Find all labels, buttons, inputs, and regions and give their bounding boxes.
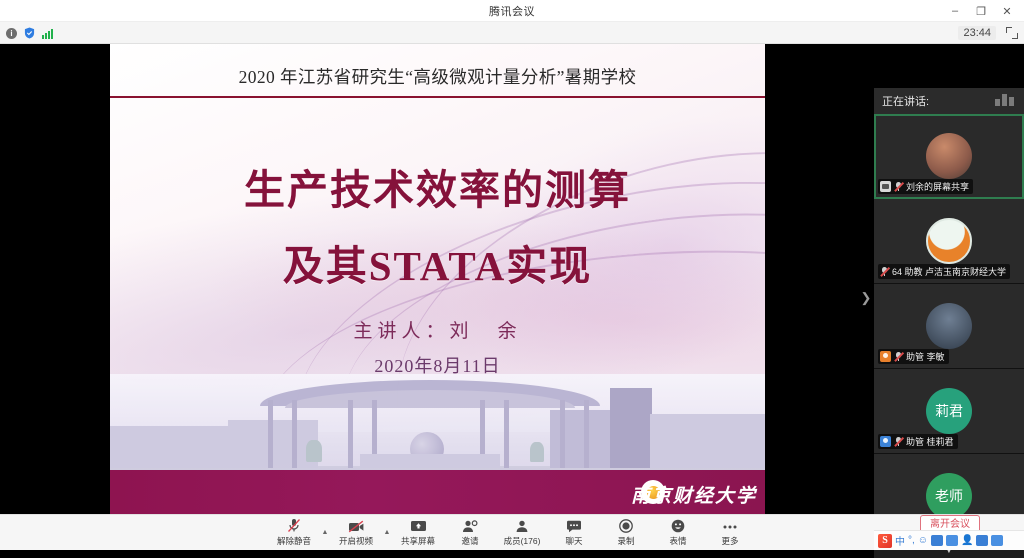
- signal-bars-icon[interactable]: [42, 28, 53, 39]
- participant-label: 助管 桂莉君: [878, 434, 958, 449]
- record-circle-icon: [619, 518, 633, 533]
- mic-muted-icon: [894, 181, 903, 192]
- members-label: 成员(176): [504, 535, 541, 547]
- participant-tile[interactable]: 莉君 助管 桂莉君: [874, 369, 1024, 454]
- slide-title-line1: 生产技术效率的测算: [110, 156, 765, 216]
- unmute-label: 解除静音: [277, 535, 311, 547]
- ime-toolbox-icon[interactable]: [991, 535, 1003, 546]
- participant-name: 助管 桂莉君: [906, 435, 954, 448]
- ime-language-mode[interactable]: 中: [895, 533, 905, 548]
- share-screen-label: 共享屏幕: [401, 535, 435, 547]
- unmute-button[interactable]: 解除静音: [268, 515, 320, 551]
- share-screen-icon: [410, 518, 427, 533]
- speaking-header: 正在讲话:: [874, 88, 1024, 114]
- status-right-group: 23:44: [958, 22, 1018, 44]
- members-icon: [514, 518, 530, 533]
- slide-header-text: 2020 年江苏省研究生“高级微观计量分析”暑期学校: [110, 64, 765, 89]
- audio-wave-icon: [995, 94, 1014, 106]
- share-screen-button[interactable]: 共享屏幕: [392, 515, 444, 551]
- window-controls: – ❐ ✕: [942, 0, 1020, 22]
- more-dots-icon: [722, 518, 738, 533]
- participant-tile[interactable]: 刘余的屏幕共享: [874, 114, 1024, 199]
- host-badge-icon: [880, 436, 891, 447]
- slide-footer-band: 南京财经大学: [110, 470, 765, 514]
- university-name: 南京财经大学: [631, 481, 757, 508]
- more-label: 更多: [721, 535, 738, 547]
- mic-muted-icon: [894, 436, 903, 447]
- mic-options-caret-icon[interactable]: ▲: [320, 515, 330, 551]
- slide-title-line2: 及其STATA实现: [110, 232, 765, 292]
- camera-off-icon: [348, 518, 365, 533]
- participant-label: 刘余的屏幕共享: [878, 179, 973, 194]
- avatar: 老师: [926, 473, 972, 519]
- mic-muted-icon: [287, 518, 301, 533]
- speaking-label: 正在讲话:: [882, 93, 929, 109]
- avatar: [926, 218, 972, 264]
- sogou-logo-icon[interactable]: S: [878, 534, 892, 548]
- avatar: [926, 303, 972, 349]
- mic-muted-icon: [880, 266, 889, 277]
- meeting-toolbar: 解除静音 ▲ 开启视频 ▲ 共享屏幕 邀请 成员(176) 聊天: [0, 514, 1024, 550]
- info-icon[interactable]: i: [6, 28, 17, 39]
- status-icons-group: i: [6, 22, 53, 44]
- close-button[interactable]: ✕: [994, 0, 1020, 22]
- participant-label: 64 助教 卢洁玉南京财经大学: [878, 264, 1010, 279]
- participant-name: 64 助教 卢洁玉南京财经大学: [892, 265, 1006, 278]
- invite-button[interactable]: 邀请: [444, 515, 496, 551]
- start-video-label: 开启视频: [339, 535, 373, 547]
- video-options-caret-icon[interactable]: ▲: [382, 515, 392, 551]
- shared-screen-slide[interactable]: 2020 年江苏省研究生“高级微观计量分析”暑期学校 生产技术效率的测算 及其S…: [110, 44, 765, 514]
- window-title: 腾讯会议: [489, 3, 535, 19]
- chat-bubble-icon: [566, 518, 582, 533]
- meeting-clock: 23:44: [958, 26, 996, 40]
- screen-share-icon: [880, 181, 891, 192]
- emoji-label: 表情: [669, 535, 686, 547]
- shield-icon[interactable]: [24, 27, 35, 39]
- invite-label: 邀请: [461, 535, 478, 547]
- participant-tile[interactable]: 64 助教 卢洁玉南京财经大学: [874, 199, 1024, 284]
- ime-toolbar: S 中 °, ☺ 👤: [874, 530, 1024, 550]
- window-titlebar: 腾讯会议 – ❐ ✕: [0, 0, 1024, 22]
- ime-keyboard-icon[interactable]: [946, 535, 958, 546]
- participant-label: 助管 李敏: [878, 349, 949, 364]
- avatar: 莉君: [926, 388, 972, 434]
- chat-button[interactable]: 聊天: [548, 515, 600, 551]
- avatar: [926, 133, 972, 179]
- ime-punctuation-icon[interactable]: °,: [908, 535, 915, 546]
- more-button[interactable]: 更多: [704, 515, 756, 551]
- ime-skin-icon[interactable]: [976, 535, 988, 546]
- meeting-stage: 2020 年江苏省研究生“高级微观计量分析”暑期学校 生产技术效率的测算 及其S…: [0, 44, 1024, 514]
- meeting-status-bar: i 23:44: [0, 22, 1024, 44]
- participant-name: 刘余的屏幕共享: [906, 180, 969, 193]
- mic-muted-icon: [894, 351, 903, 362]
- maximize-button[interactable]: ❐: [968, 0, 994, 22]
- chat-label: 聊天: [565, 535, 582, 547]
- participant-panel: 正在讲话: 刘余的屏幕共享 64 助教 卢洁玉南京财经大学 助管 李敏: [874, 88, 1024, 558]
- slide-header-rule: [110, 96, 765, 98]
- slide-presenter: 主讲人：刘 余: [110, 316, 765, 343]
- chevron-right-icon[interactable]: ❯: [858, 280, 874, 316]
- invite-person-icon: [462, 518, 478, 533]
- members-button[interactable]: 成员(176): [496, 515, 548, 551]
- ime-emoji-icon[interactable]: ☺: [918, 535, 928, 546]
- host-badge-icon: [880, 351, 891, 362]
- start-video-button[interactable]: 开启视频: [330, 515, 382, 551]
- emoji-smile-icon: [671, 518, 685, 533]
- emoji-button[interactable]: 表情: [652, 515, 704, 551]
- record-label: 录制: [617, 535, 634, 547]
- record-button[interactable]: 录制: [600, 515, 652, 551]
- participant-tile[interactable]: 助管 李敏: [874, 284, 1024, 369]
- participant-name: 助管 李敏: [906, 350, 945, 363]
- ime-person-icon[interactable]: 👤: [961, 535, 973, 546]
- fullscreen-icon[interactable]: [1006, 27, 1018, 39]
- minimize-button[interactable]: –: [942, 0, 968, 22]
- ime-mic-icon[interactable]: [931, 535, 943, 546]
